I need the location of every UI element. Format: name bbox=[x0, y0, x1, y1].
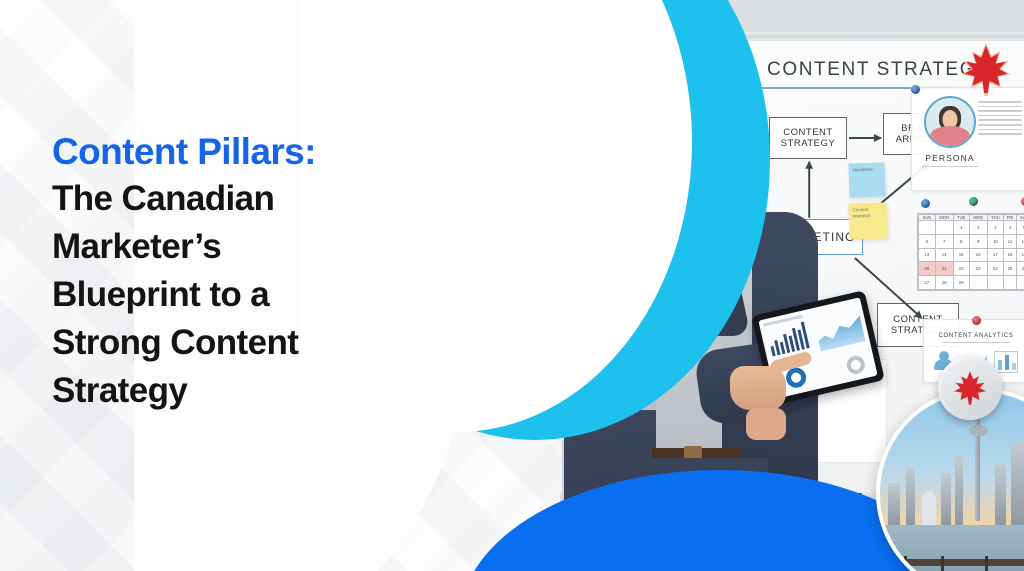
sticky-note-yellow-text: Contentresearch bbox=[853, 207, 871, 219]
calendar-day-15[interactable]: 15 bbox=[953, 248, 969, 262]
hero-title-line-1: The Canadian bbox=[52, 175, 452, 223]
hero-title-line-3: Blueprint to a bbox=[52, 271, 452, 319]
analytics-icon-bars bbox=[994, 351, 1018, 373]
calendar-day-16[interactable]: 16 bbox=[969, 248, 987, 262]
calendar-day-14[interactable]: 14 bbox=[935, 248, 953, 262]
calendar-day-25[interactable]: 25 bbox=[1003, 262, 1016, 276]
calendar-week-row: 6789101112 bbox=[919, 234, 1024, 248]
calendar-day-13[interactable]: 13 bbox=[919, 248, 936, 262]
calendar-day-empty bbox=[1017, 276, 1024, 290]
hero-title-line-4: Strong Content bbox=[52, 319, 452, 367]
ear-right bbox=[726, 116, 742, 142]
sticky-note-blue: Headlines bbox=[848, 162, 885, 197]
sticky-note-yellow: Contentresearch bbox=[848, 202, 887, 239]
calendar-day-4[interactable]: 4 bbox=[1003, 221, 1016, 235]
calendar-body: 1234567891011121314151617181920212223242… bbox=[919, 221, 1024, 290]
calendar-day-empty bbox=[935, 221, 953, 235]
calendar-day-empty bbox=[987, 276, 1003, 290]
calendar-day-5[interactable]: 5 bbox=[1017, 221, 1024, 235]
divider bbox=[942, 342, 1010, 343]
hero-title-line-5: Strategy bbox=[52, 367, 452, 415]
avatar-female bbox=[924, 96, 976, 148]
sticky-note-blue-text: Headlines bbox=[853, 167, 873, 173]
canada-maple-leaf-pin bbox=[956, 38, 1016, 100]
persona-card-right: PERSONA bbox=[911, 87, 1024, 191]
calendar-week-row: 20212223242526 bbox=[919, 262, 1024, 276]
calendar-day-3[interactable]: 3 bbox=[987, 221, 1003, 235]
mouth bbox=[670, 164, 700, 170]
calendar-day-2[interactable]: 2 bbox=[969, 221, 987, 235]
calendar-day-7[interactable]: 7 bbox=[935, 234, 953, 248]
hero-title-accent: Content Pillars: bbox=[52, 128, 452, 175]
calendar-day-empty bbox=[1003, 276, 1016, 290]
calendar-day-26[interactable]: 26 bbox=[1017, 262, 1024, 276]
calendar-day-8[interactable]: 8 bbox=[953, 234, 969, 248]
calendar-day-9[interactable]: 9 bbox=[969, 234, 987, 248]
calendar-day-19[interactable]: 19 bbox=[1017, 248, 1024, 262]
pupil-right bbox=[704, 119, 712, 127]
eyebrow-left bbox=[646, 108, 672, 113]
calendar-week-row: 272829 bbox=[919, 276, 1024, 290]
calendar-day-17[interactable]: 17 bbox=[987, 248, 1003, 262]
tablet-donut-chart-2 bbox=[845, 354, 867, 376]
calendar-day-28[interactable]: 28 bbox=[935, 276, 953, 290]
hand-support bbox=[746, 408, 786, 440]
calendar-day-20[interactable]: 20 bbox=[919, 262, 936, 276]
dock-post bbox=[904, 556, 907, 571]
beard bbox=[644, 148, 730, 196]
calendar-day-12[interactable]: 12 bbox=[1017, 234, 1024, 248]
content-analytics-title: CONTENT ANALYTICS bbox=[930, 333, 1022, 339]
calendar: SUNMONTUEWEDTHUFRISAT 123456789101112131… bbox=[917, 213, 1024, 291]
calendar-day-10[interactable]: 10 bbox=[987, 234, 1003, 248]
hero-title-line-2: Marketer’s bbox=[52, 223, 452, 271]
ear-left bbox=[630, 116, 646, 142]
calendar-day-1[interactable]: 1 bbox=[953, 221, 969, 235]
calendar-week-row: 13141516171819 bbox=[919, 248, 1024, 262]
calendar-day-27[interactable]: 27 bbox=[919, 276, 936, 290]
dock-post bbox=[985, 556, 988, 571]
tablet-area-chart bbox=[815, 314, 866, 352]
magnet-blue bbox=[911, 85, 920, 94]
calendar-day-21[interactable]: 21 bbox=[935, 262, 953, 276]
magnet-blue-2 bbox=[921, 199, 930, 208]
canada-maple-leaf-badge bbox=[938, 356, 1002, 420]
dock bbox=[880, 559, 1024, 566]
calendar-day-24[interactable]: 24 bbox=[987, 262, 1003, 276]
calendar-day-empty bbox=[919, 221, 936, 235]
calendar-day-11[interactable]: 11 bbox=[1003, 234, 1016, 248]
calendar-day-23[interactable]: 23 bbox=[969, 262, 987, 276]
calendar-day-29[interactable]: 29 bbox=[953, 276, 969, 290]
arrow-cs-to-brand bbox=[849, 137, 881, 139]
hero-banner: CONTENT STRATEGY MADRETSTRATEGY CONTENTS… bbox=[0, 0, 1024, 571]
eyebrow-right bbox=[696, 108, 722, 113]
magnet-green bbox=[969, 197, 978, 206]
tablet-header-bar bbox=[763, 315, 803, 327]
hero-title-block: Content Pillars: The Canadian Marketer’s… bbox=[52, 128, 452, 415]
divider bbox=[922, 166, 978, 167]
magnet-red-2 bbox=[972, 316, 981, 325]
persona-card-right-title: PERSONA bbox=[918, 153, 982, 163]
calendar-day-6[interactable]: 6 bbox=[919, 234, 936, 248]
toronto-skyline-photo bbox=[876, 388, 1024, 571]
calendar-day-18[interactable]: 18 bbox=[1003, 248, 1016, 262]
pupil-left bbox=[654, 119, 662, 127]
calendar-week-row: 12345 bbox=[919, 221, 1024, 235]
calendar-table: SUNMONTUEWEDTHUFRISAT 123456789101112131… bbox=[918, 214, 1024, 290]
dock-post bbox=[941, 556, 944, 571]
calendar-day-22[interactable]: 22 bbox=[953, 262, 969, 276]
cn-tower bbox=[975, 405, 980, 521]
calendar-day-empty bbox=[969, 276, 987, 290]
